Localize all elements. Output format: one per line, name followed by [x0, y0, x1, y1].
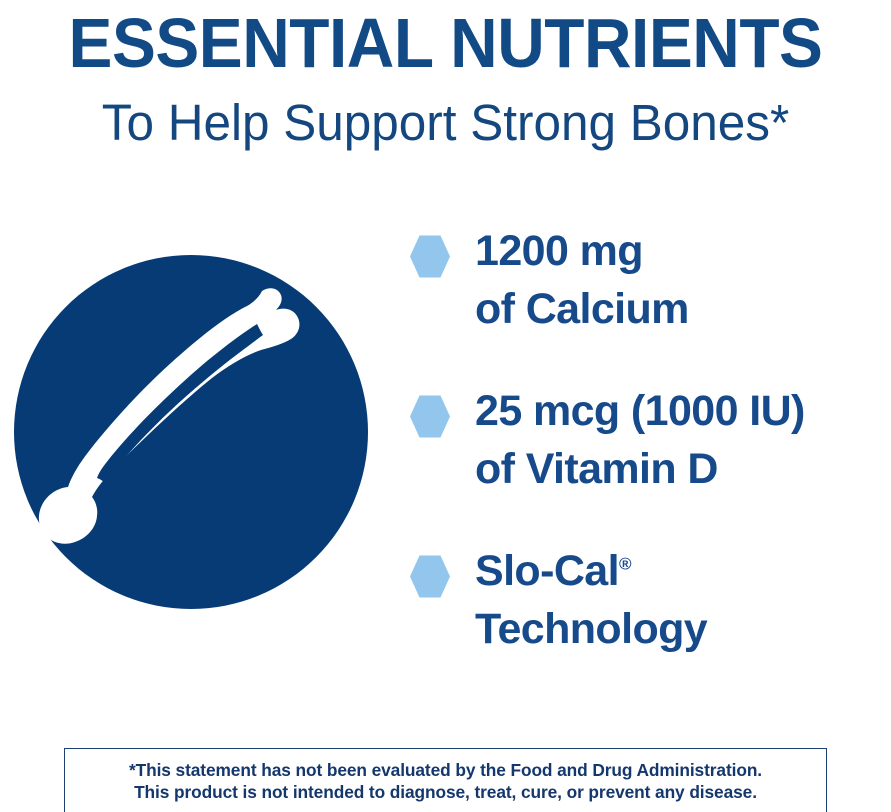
hexagon-bullet-icon: [409, 394, 451, 439]
nutrient-list: 1200 mg of Calcium 25 mcg (1000 IU) of V…: [409, 222, 879, 658]
infographic-page: ESSENTIAL NUTRIENTS To Help Support Stro…: [0, 0, 891, 812]
list-item: 1200 mg of Calcium: [409, 222, 879, 338]
registered-mark: ®: [619, 555, 632, 574]
bone-illustration-circle: [14, 255, 368, 609]
disclaimer-line-2: This product is not intended to diagnose…: [77, 781, 815, 803]
list-item-label: 1200 mg of Calcium: [475, 222, 689, 338]
list-item-label: 25 mcg (1000 IU) of Vitamin D: [475, 382, 805, 498]
list-item-line1: Slo-Cal: [475, 547, 619, 595]
disclaimer-box: *This statement has not been evaluated b…: [64, 748, 827, 812]
bone-icon: [14, 255, 368, 609]
list-item: Slo-Cal®Technology: [409, 542, 879, 658]
hexagon-bullet-icon: [409, 554, 451, 599]
hexagon-bullet-icon: [409, 234, 451, 279]
page-title: ESSENTIAL NUTRIENTS: [27, 0, 865, 80]
page-subtitle: To Help Support Strong Bones*: [13, 80, 877, 152]
header: ESSENTIAL NUTRIENTS To Help Support Stro…: [0, 0, 891, 152]
disclaimer-line-1: *This statement has not been evaluated b…: [77, 759, 815, 781]
list-item-line2: Technology: [475, 605, 707, 653]
list-item: 25 mcg (1000 IU) of Vitamin D: [409, 382, 879, 498]
list-item-label: Slo-Cal®Technology: [475, 542, 707, 658]
